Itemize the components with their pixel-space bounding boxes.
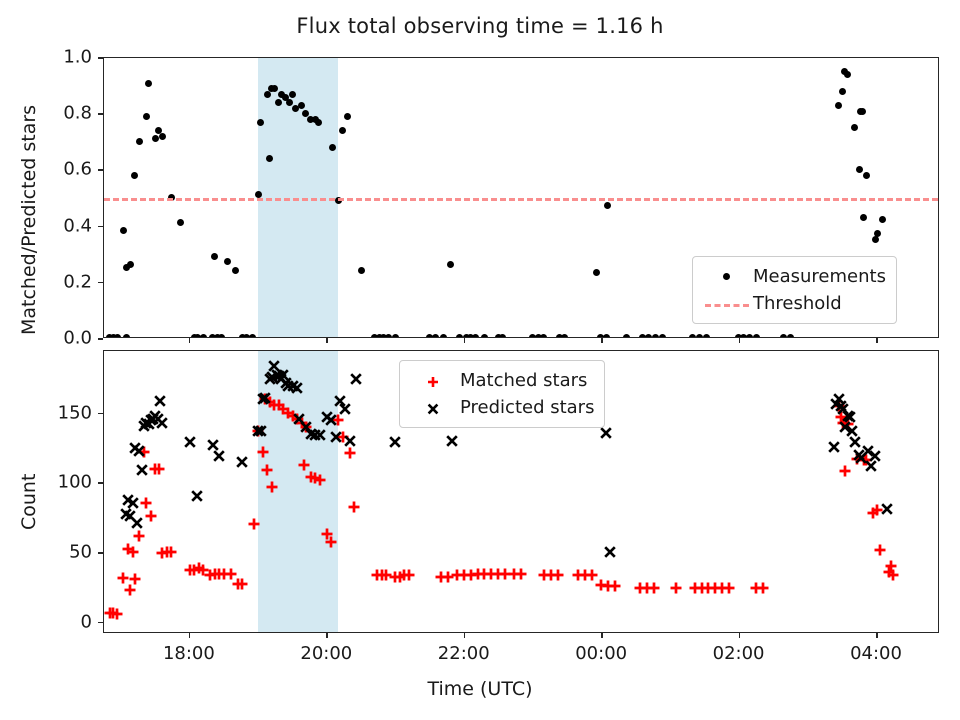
- threshold-line: [104, 198, 938, 201]
- data-point-measurement: [289, 91, 296, 98]
- data-point-matched-star: [558, 575, 559, 576]
- data-point-measurement: [659, 334, 666, 339]
- x-tick-label: 18:00: [163, 643, 215, 664]
- data-point-predicted-star: [320, 435, 321, 436]
- data-point-measurement: [879, 216, 886, 223]
- data-point-measurement: [753, 334, 760, 339]
- data-point-measurement: [159, 133, 166, 140]
- data-point-measurement: [145, 80, 152, 87]
- data-point-measurement: [358, 267, 365, 274]
- top-legend[interactable]: Measurements Threshold: [692, 256, 897, 324]
- bottom-legend[interactable]: Matched stars Predicted stars: [399, 360, 605, 428]
- data-point-measurement: [851, 124, 858, 131]
- y-tick-label: 1.0: [0, 47, 92, 68]
- data-point-matched-star: [267, 470, 268, 471]
- data-point-matched-star: [139, 536, 140, 537]
- data-point-measurement: [623, 334, 630, 339]
- y-tick-label: 0.8: [0, 103, 92, 124]
- data-point-predicted-star: [356, 379, 357, 380]
- data-point-predicted-star: [875, 456, 876, 457]
- data-point-matched-star: [409, 575, 410, 576]
- data-point-matched-star: [331, 542, 332, 543]
- data-point-predicted-star: [834, 447, 835, 448]
- data-point-predicted-star: [345, 409, 346, 410]
- data-point-matched-star: [135, 579, 136, 580]
- data-point-measurement: [232, 267, 239, 274]
- predicted-stars-marker-icon: [408, 397, 460, 419]
- legend-label-measurements: Measurements: [753, 266, 886, 287]
- data-point-predicted-star: [610, 552, 611, 553]
- data-point-measurement: [385, 334, 392, 339]
- y-tick: [98, 113, 103, 115]
- data-point-measurement: [856, 166, 863, 173]
- data-point-measurement: [746, 334, 753, 339]
- data-point-predicted-star: [395, 442, 396, 443]
- data-point-predicted-star: [452, 441, 453, 442]
- y-tick-label: 150: [0, 402, 92, 423]
- y-tick: [98, 282, 103, 284]
- data-point-matched-star: [304, 465, 305, 466]
- data-point-matched-star: [521, 574, 522, 575]
- legend-item-predicted-stars[interactable]: Predicted stars: [408, 394, 594, 421]
- x-tick: [464, 633, 466, 638]
- y-tick-label: 0.0: [0, 328, 92, 349]
- data-point-measurement: [456, 334, 463, 339]
- data-point-measurement: [177, 219, 184, 226]
- y-tick-label: 50: [0, 542, 92, 563]
- data-point-measurement: [689, 334, 696, 339]
- data-point-predicted-star: [219, 456, 220, 457]
- figure-canvas: Flux total observing time = 1.16 h 0.00.…: [0, 0, 960, 720]
- data-point-matched-star: [242, 584, 243, 585]
- x-tick-label: 04:00: [850, 643, 902, 664]
- data-point-measurement: [344, 113, 351, 120]
- legend-label-matched-stars: Matched stars: [460, 370, 587, 391]
- data-point-matched-star: [350, 453, 351, 454]
- x-tick: [876, 633, 878, 638]
- data-point-matched-star: [893, 575, 894, 576]
- data-point-matched-star: [354, 507, 355, 508]
- data-point-measurement: [218, 334, 225, 339]
- data-point-predicted-star: [213, 445, 214, 446]
- x-tick-label: 20:00: [300, 643, 352, 664]
- x-axis-label: Time (UTC): [0, 678, 960, 700]
- data-point-predicted-star: [197, 496, 198, 497]
- data-point-predicted-star: [133, 503, 134, 504]
- data-point-matched-star: [171, 552, 172, 553]
- data-point-measurement: [315, 119, 322, 126]
- data-point-measurement: [432, 334, 439, 339]
- data-point-predicted-star: [242, 462, 243, 463]
- x-tick-label: 02:00: [713, 643, 765, 664]
- data-point-measurement: [499, 334, 506, 339]
- x-tick: [601, 338, 603, 343]
- data-point-measurement: [286, 99, 293, 106]
- data-point-measurement: [604, 202, 611, 209]
- data-point-measurement: [540, 334, 547, 339]
- data-point-measurement: [481, 334, 488, 339]
- data-point-matched-star: [254, 524, 255, 525]
- data-point-measurement: [298, 102, 305, 109]
- data-point-measurement: [860, 214, 867, 221]
- data-point-matched-star: [146, 503, 147, 504]
- data-point-predicted-star: [331, 420, 332, 421]
- data-point-measurement: [120, 227, 127, 234]
- data-point-matched-star: [263, 452, 264, 453]
- y-tick-label: 0: [0, 611, 92, 632]
- data-point-predicted-star: [160, 401, 161, 402]
- data-point-measurement: [863, 172, 870, 179]
- data-point-measurement: [787, 334, 794, 339]
- legend-label-threshold: Threshold: [753, 293, 842, 314]
- data-point-predicted-star: [606, 433, 607, 434]
- data-point-matched-star: [845, 471, 846, 472]
- data-point-measurement: [152, 135, 159, 142]
- data-point-measurement: [561, 334, 568, 339]
- data-point-matched-star: [130, 590, 131, 591]
- x-tick: [876, 338, 878, 343]
- top-y-axis-label: Matched/Predicted stars: [18, 105, 40, 335]
- data-point-measurement: [143, 113, 150, 120]
- data-point-measurement: [440, 334, 447, 339]
- data-point-measurement: [874, 230, 881, 237]
- data-point-matched-star: [880, 550, 881, 551]
- x-tick: [189, 633, 191, 638]
- data-point-matched-star: [151, 516, 152, 517]
- data-point-predicted-star: [265, 398, 266, 399]
- matched-stars-marker-icon: [408, 370, 460, 392]
- x-tick: [326, 338, 328, 343]
- y-tick: [98, 552, 103, 554]
- data-point-matched-star: [615, 586, 616, 587]
- y-tick-label: 0.2: [0, 271, 92, 292]
- data-point-matched-star: [729, 588, 730, 589]
- figure-title: Flux total observing time = 1.16 h: [0, 14, 960, 38]
- data-point-measurement: [329, 144, 336, 151]
- data-point-matched-star: [159, 469, 160, 470]
- bottom-y-axis-label: Count: [18, 474, 40, 530]
- data-point-matched-star: [272, 487, 273, 488]
- data-point-predicted-star: [871, 466, 872, 467]
- data-point-matched-star: [117, 614, 118, 615]
- data-point-predicted-star: [261, 431, 262, 432]
- data-point-predicted-star: [139, 451, 140, 452]
- x-tick: [464, 338, 466, 343]
- data-point-predicted-star: [350, 441, 351, 442]
- data-point-predicted-star: [855, 442, 856, 443]
- data-point-measurement: [257, 119, 264, 126]
- y-tick-label: 0.6: [0, 159, 92, 180]
- y-tick: [98, 226, 103, 228]
- data-point-measurement: [123, 334, 130, 339]
- data-point-matched-star: [763, 588, 764, 589]
- data-point-measurement: [339, 127, 346, 134]
- y-tick: [98, 413, 103, 415]
- data-point-predicted-star: [190, 442, 191, 443]
- data-point-measurement: [703, 334, 710, 339]
- data-point-measurement: [224, 258, 231, 265]
- data-point-measurement: [472, 334, 479, 339]
- data-point-predicted-star: [887, 509, 888, 510]
- data-point-measurement: [392, 334, 399, 339]
- data-point-predicted-star: [162, 423, 163, 424]
- data-point-matched-star: [654, 588, 655, 589]
- data-point-measurement: [859, 108, 866, 115]
- y-tick: [98, 622, 103, 624]
- data-point-measurement: [844, 71, 851, 78]
- x-tick: [189, 338, 191, 343]
- x-tick: [601, 633, 603, 638]
- x-tick-label: 00:00: [575, 643, 627, 664]
- data-point-measurement: [696, 334, 703, 339]
- data-point-measurement: [593, 269, 600, 276]
- data-point-measurement: [200, 334, 207, 339]
- data-point-measurement: [136, 138, 143, 145]
- data-point-measurement: [249, 334, 256, 339]
- legend-item-matched-stars[interactable]: Matched stars: [408, 367, 594, 394]
- data-point-matched-star: [133, 552, 134, 553]
- legend-item-threshold[interactable]: Threshold: [701, 290, 886, 317]
- measurements-marker-icon: [701, 266, 753, 288]
- data-point-matched-star: [676, 588, 677, 589]
- data-point-predicted-star: [137, 523, 138, 524]
- data-point-predicted-star: [297, 388, 298, 389]
- x-tick: [326, 633, 328, 638]
- y-tick: [98, 482, 103, 484]
- y-tick: [98, 338, 103, 340]
- data-point-measurement: [839, 88, 846, 95]
- data-point-predicted-star: [142, 470, 143, 471]
- x-tick-label: 22:00: [438, 643, 490, 664]
- threshold-marker-icon: [701, 293, 753, 315]
- x-tick: [739, 338, 741, 343]
- data-point-measurement: [131, 172, 138, 179]
- y-tick: [98, 169, 103, 171]
- data-point-measurement: [127, 261, 134, 268]
- data-point-measurement: [114, 334, 121, 339]
- data-point-measurement: [211, 253, 218, 260]
- data-point-measurement: [271, 85, 278, 92]
- data-point-measurement: [603, 334, 610, 339]
- data-point-measurement: [447, 261, 454, 268]
- data-point-matched-star: [320, 480, 321, 481]
- y-tick: [98, 57, 103, 59]
- x-tick: [739, 633, 741, 638]
- legend-item-measurements[interactable]: Measurements: [701, 263, 886, 290]
- legend-label-predicted-stars: Predicted stars: [460, 397, 594, 418]
- y-tick-label: 0.4: [0, 215, 92, 236]
- data-point-predicted-star: [852, 431, 853, 432]
- data-point-measurement: [835, 102, 842, 109]
- data-point-predicted-star: [336, 437, 337, 438]
- y-tick-label: 100: [0, 472, 92, 493]
- data-point-matched-star: [123, 578, 124, 579]
